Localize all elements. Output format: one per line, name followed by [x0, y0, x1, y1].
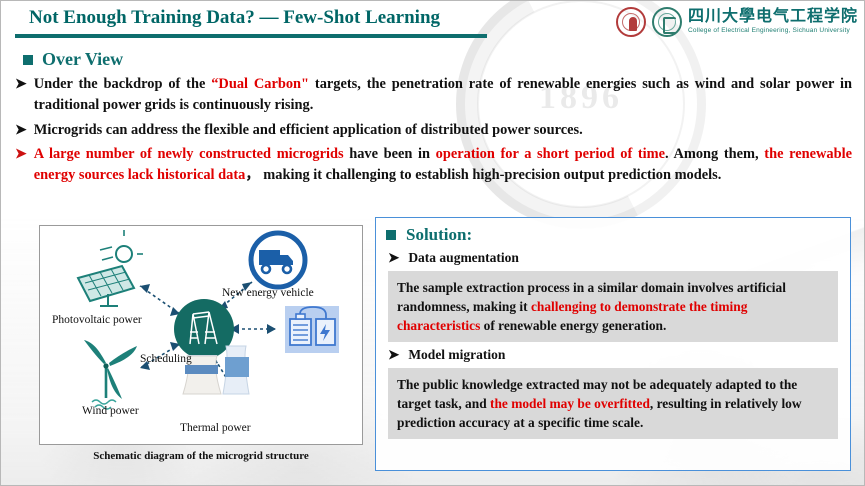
wind-power-label: Wind power	[82, 405, 139, 417]
overview-bullet: ➤Microgrids can address the flexible and…	[15, 120, 852, 141]
solution-heading-label: Solution:	[406, 225, 472, 245]
text-run: ， making it challenging to establish hig…	[245, 167, 721, 183]
microgrid-diagram: Photovoltaic power Wind power New energy…	[39, 225, 363, 445]
slide-body: Over View ➤Under the backdrop of the “Du…	[1, 43, 865, 190]
solution-panel: Solution: ➤Data augmentationThe sample e…	[375, 217, 851, 471]
figure-caption: Schematic diagram of the microgrid struc…	[39, 450, 363, 462]
solution-item-list: ➤Data augmentationThe sample extraction …	[376, 250, 850, 439]
college-seal-green-icon	[652, 7, 682, 37]
overview-bullet-text: Microgrids can address the flexible and …	[34, 120, 852, 141]
wind-turbine-icon	[84, 340, 137, 409]
scheduling-hub-icon	[174, 299, 234, 359]
text-run: Microgrids can address the flexible and …	[34, 122, 583, 138]
solution-heading: Solution:	[386, 225, 850, 245]
text-run: have been in	[344, 146, 436, 162]
solution-sub-heading-label: Data augmentation	[408, 250, 519, 266]
solution-sub-heading: ➤Model migration	[388, 347, 850, 363]
slide-canvas: 1896 Not Enough Training Data? — Few-Sho…	[0, 0, 865, 486]
battery-storage-icon	[285, 306, 339, 353]
text-run: “Dual Carbon"	[211, 76, 309, 92]
solution-body-box: The sample extraction process in a simil…	[388, 271, 838, 342]
solution-sub-heading: ➤Data augmentation	[388, 250, 850, 266]
title-underline-rule	[15, 34, 487, 38]
arrow-bullet-icon: ➤	[15, 74, 27, 95]
overview-bullet: ➤Under the backdrop of the “Dual Carbon"…	[15, 74, 852, 117]
arrow-bullet-icon: ➤	[15, 144, 27, 165]
text-run: operation for a short period of time	[436, 146, 665, 162]
square-bullet-icon	[23, 55, 33, 65]
overview-heading-label: Over View	[42, 49, 123, 70]
thermal-power-label: Thermal power	[180, 422, 251, 434]
arrow-bullet-icon: ➤	[388, 347, 399, 363]
university-logo: 四川大學电气工程学院 College of Electrical Enginee…	[616, 5, 858, 39]
solution-sub-heading-label: Model migration	[408, 347, 505, 363]
overview-bullet-list: ➤Under the backdrop of the “Dual Carbon"…	[1, 74, 865, 187]
text-run: Under the backdrop of the	[34, 76, 212, 92]
overview-heading: Over View	[23, 49, 865, 70]
overview-bullet-text: Under the backdrop of the “Dual Carbon" …	[34, 74, 852, 117]
square-bullet-icon	[386, 230, 396, 240]
text-run: . Among them,	[665, 146, 764, 162]
logo-english-name: College of Electrical Engineering, Sichu…	[688, 28, 858, 35]
scu-seal-red-icon	[616, 7, 646, 37]
text-run: of renewable energy generation.	[480, 318, 666, 333]
overview-bullet: ➤A large number of newly constructed mic…	[15, 144, 852, 187]
arrow-bullet-icon: ➤	[388, 250, 399, 266]
logo-chinese-name: 四川大學电气工程学院	[688, 9, 858, 25]
new-energy-vehicle-label: New energy vehicle	[222, 287, 314, 299]
text-run: the model may be overfitted	[490, 396, 650, 411]
page-title: Not Enough Training Data? — Few-Shot Lea…	[29, 7, 440, 29]
overview-bullet-text: A large number of newly constructed micr…	[34, 144, 852, 187]
slide-header: Not Enough Training Data? — Few-Shot Lea…	[1, 1, 865, 43]
text-run: A large number of newly constructed micr…	[34, 146, 344, 162]
photovoltaic-label: Photovoltaic power	[52, 314, 142, 326]
arrow-bullet-icon: ➤	[15, 120, 27, 141]
solar-panel-icon	[78, 230, 143, 306]
scheduling-label: Scheduling	[140, 353, 192, 365]
solution-body-box: The public knowledge extracted may not b…	[388, 368, 838, 439]
electric-truck-icon	[251, 233, 305, 287]
